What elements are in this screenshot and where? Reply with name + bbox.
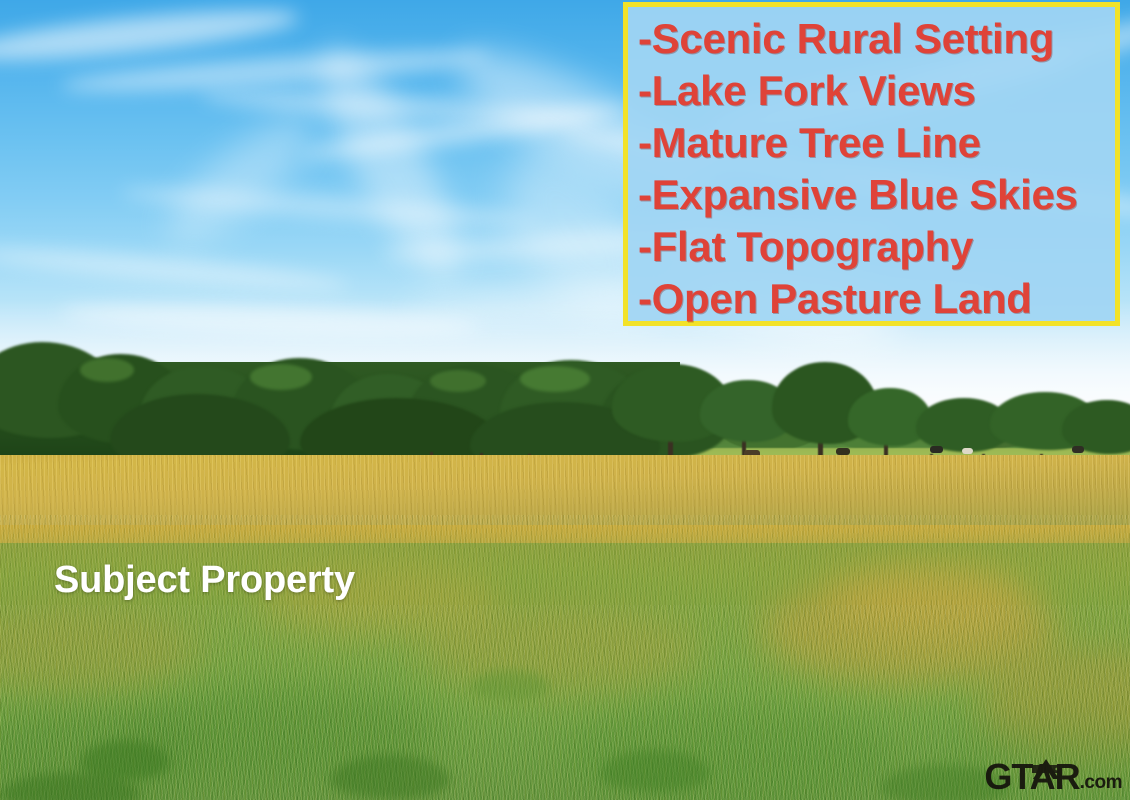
tree-highlight (80, 358, 134, 382)
grass-tuft (330, 755, 450, 799)
cattle (930, 446, 943, 453)
cattle (836, 448, 850, 455)
feature-list: -Scenic Rural Setting -Lake Fork Views -… (638, 13, 1115, 325)
cirrus-cloud (120, 181, 541, 232)
pasture-ground (0, 455, 1130, 800)
feature-list-item: -Mature Tree Line (638, 117, 1115, 169)
tree-highlight (430, 370, 486, 392)
cirrus-cloud (0, 241, 350, 296)
cirrus-cloud (298, 32, 482, 294)
gtar-watermark: GTAR .com (984, 760, 1122, 794)
watermark-brand-text: GTAR (984, 760, 1079, 794)
grass-tuft (470, 670, 550, 700)
cattle (962, 448, 973, 454)
cirrus-cloud (60, 43, 491, 99)
cirrus-cloud (152, 99, 328, 261)
feature-list-item: -Lake Fork Views (638, 65, 1115, 117)
grass-tuft (600, 750, 710, 792)
feature-list-item: -Open Pasture Land (638, 273, 1115, 325)
feature-list-item: -Flat Topography (638, 221, 1115, 273)
feature-list-item: -Scenic Rural Setting (638, 13, 1115, 65)
cattle (1072, 446, 1084, 453)
arrow-icon (1031, 757, 1061, 783)
property-photo: -Scenic Rural Setting -Lake Fork Views -… (0, 0, 1130, 800)
feature-callout-box: -Scenic Rural Setting -Lake Fork Views -… (623, 2, 1120, 326)
watermark-domain-label: .com (1080, 772, 1122, 794)
cirrus-cloud (300, 99, 630, 165)
subject-property-label: Subject Property (54, 559, 355, 601)
cirrus-cloud (0, 0, 301, 69)
tree-highlight (250, 364, 312, 390)
feature-list-item: -Expansive Blue Skies (638, 169, 1115, 221)
tree-highlight (520, 366, 590, 392)
cirrus-cloud (200, 86, 601, 129)
